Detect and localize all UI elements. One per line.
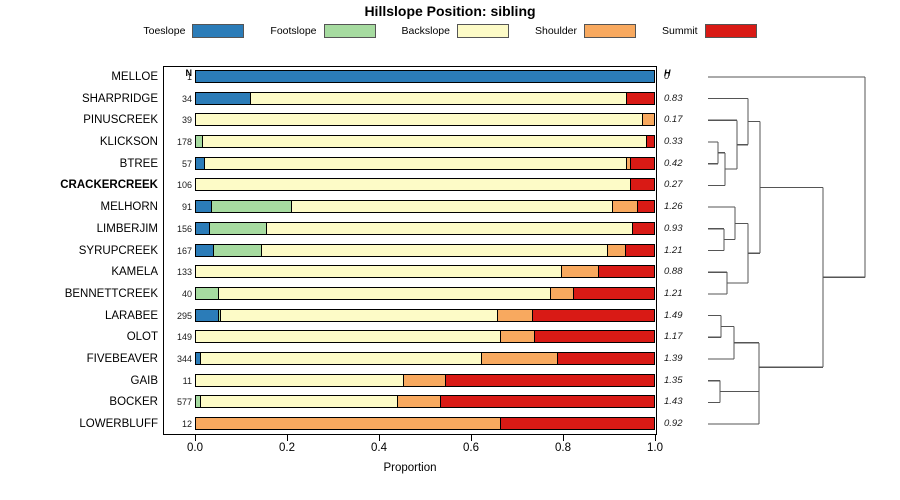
legend-item-toeslope: Toeslope <box>143 24 244 38</box>
legend-swatch-toeslope <box>192 24 244 38</box>
bar-segment-toeslope <box>196 201 212 212</box>
row-n-value: 106 <box>166 175 192 195</box>
bar-segment-shoulder <box>196 418 501 429</box>
row-n-value: 178 <box>166 132 192 152</box>
bar-segment-toeslope <box>196 71 654 82</box>
stacked-bar <box>195 287 655 300</box>
row-h-value: 1.43 <box>664 392 694 412</box>
row-n-value: 577 <box>166 392 192 412</box>
x-axis: 0.00.20.40.60.81.0 <box>163 435 657 441</box>
row-n-value: 12 <box>166 414 192 434</box>
stacked-bar <box>195 330 655 343</box>
row-label-limberjim: LIMBERJIM <box>0 219 158 239</box>
bar-segment-footslope <box>214 245 262 256</box>
stacked-bar <box>195 113 655 126</box>
bar-segment-backslope <box>196 331 501 342</box>
bar-segment-summit <box>633 223 654 234</box>
row-label-melloe: MELLOE <box>0 67 158 87</box>
bar-segment-backslope <box>201 396 398 407</box>
bar-segment-summit <box>535 331 654 342</box>
bar-segment-summit <box>599 266 654 277</box>
bar-segment-shoulder <box>608 245 626 256</box>
row-n-value: 133 <box>166 262 192 282</box>
legend-label: Shoulder <box>535 25 577 37</box>
bar-segment-backslope <box>196 266 562 277</box>
row-label-lowerbluff: LOWERBLUFF <box>0 414 158 434</box>
row-h-value: 0.27 <box>664 175 694 195</box>
row-h-value: 1.35 <box>664 371 694 391</box>
row-h-value: 1.49 <box>664 306 694 326</box>
row-label-gaib: GAIB <box>0 371 158 391</box>
bar-segment-toeslope <box>196 223 210 234</box>
bar-segment-backslope <box>196 179 631 190</box>
stacked-bar <box>195 309 655 322</box>
x-tick <box>195 435 196 441</box>
page-title: Hillslope Position: sibling <box>0 3 900 19</box>
bar-segment-shoulder <box>643 114 654 125</box>
stacked-bar <box>195 200 655 213</box>
row-h-value: 1.17 <box>664 327 694 347</box>
row-h-value: 0.88 <box>664 262 694 282</box>
stacked-bar <box>195 157 655 170</box>
legend-swatch-shoulder <box>584 24 636 38</box>
bar-segment-toeslope <box>196 93 251 104</box>
stacked-bar <box>195 92 655 105</box>
row-label-larabee: LARABEE <box>0 306 158 326</box>
x-tick-label: 0.4 <box>371 442 387 454</box>
bar-segment-backslope <box>262 245 608 256</box>
x-tick-label: 0.2 <box>279 442 295 454</box>
bar-segment-summit <box>574 288 654 299</box>
bar-segment-summit <box>558 353 654 364</box>
stacked-bar <box>195 417 655 430</box>
row-n-value: 40 <box>166 284 192 304</box>
bar-segment-backslope <box>292 201 613 212</box>
row-label-klickson: KLICKSON <box>0 132 158 152</box>
row-h-value: 0.92 <box>664 414 694 434</box>
row-label-crackercreek: CRACKERCREEK <box>0 175 158 195</box>
bar-segment-summit <box>647 136 654 147</box>
bar-segment-shoulder <box>498 310 532 321</box>
stacked-bar <box>195 70 655 83</box>
bar-segment-summit <box>533 310 654 321</box>
bar-segment-summit <box>638 201 654 212</box>
row-n-value: 34 <box>166 89 192 109</box>
x-tick-label: 0.8 <box>555 442 571 454</box>
x-tick <box>563 435 564 441</box>
row-n-value: 39 <box>166 110 192 130</box>
bar-segment-backslope <box>251 93 627 104</box>
bar-segment-shoulder <box>482 353 558 364</box>
legend-label: Backslope <box>402 25 450 37</box>
bar-segment-summit <box>631 158 654 169</box>
row-n-value: 11 <box>166 371 192 391</box>
row-n-value: 1 <box>166 67 192 87</box>
stacked-bar <box>195 222 655 235</box>
row-n-value: 91 <box>166 197 192 217</box>
bar-segment-summit <box>501 418 654 429</box>
bar-segment-footslope <box>210 223 267 234</box>
x-tick <box>655 435 656 441</box>
bar-segment-backslope <box>267 223 633 234</box>
stacked-bar <box>195 374 655 387</box>
row-label-kamela: KAMELA <box>0 262 158 282</box>
row-h-value: 0.17 <box>664 110 694 130</box>
legend-item-summit: Summit <box>662 24 757 38</box>
legend-swatch-backslope <box>457 24 509 38</box>
row-h-value: 0 <box>664 67 694 87</box>
bar-segment-shoulder <box>562 266 599 277</box>
legend-item-footslope: Footslope <box>270 24 375 38</box>
x-tick <box>471 435 472 441</box>
legend-item-shoulder: Shoulder <box>535 24 636 38</box>
x-tick-label: 1.0 <box>647 442 663 454</box>
x-tick-label: 0.0 <box>187 442 203 454</box>
stacked-bar <box>195 178 655 191</box>
row-h-value: 0.33 <box>664 132 694 152</box>
dendrogram <box>697 64 897 436</box>
bar-segment-shoulder <box>613 201 638 212</box>
row-label-syrupcreek: SYRUPCREEK <box>0 241 158 261</box>
row-h-value: 1.21 <box>664 284 694 304</box>
bar-segment-summit <box>446 375 654 386</box>
bar-segment-footslope <box>196 136 203 147</box>
row-n-value: 344 <box>166 349 192 369</box>
row-label-btree: BTREE <box>0 154 158 174</box>
bar-segment-toeslope <box>196 245 214 256</box>
row-h-value: 1.39 <box>664 349 694 369</box>
row-h-value: 0.83 <box>664 89 694 109</box>
bar-segment-toeslope <box>196 310 219 321</box>
row-label-bennettcreek: BENNETTCREEK <box>0 284 158 304</box>
row-n-value: 295 <box>166 306 192 326</box>
row-n-value: 156 <box>166 219 192 239</box>
bar-segment-backslope <box>196 375 404 386</box>
bar-segment-backslope <box>205 158 626 169</box>
row-h-value: 1.26 <box>664 197 694 217</box>
row-h-value: 0.42 <box>664 154 694 174</box>
row-label-pinuscreek: PINUSCREEK <box>0 110 158 130</box>
bar-segment-shoulder <box>501 331 535 342</box>
bar-segment-summit <box>441 396 654 407</box>
row-label-olot: OLOT <box>0 327 158 347</box>
legend-label: Summit <box>662 25 698 37</box>
stacked-bar <box>195 352 655 365</box>
row-n-value: 149 <box>166 327 192 347</box>
bar-segment-backslope <box>203 136 647 147</box>
stacked-bar <box>195 265 655 278</box>
bar-segment-backslope <box>201 353 483 364</box>
legend-swatch-summit <box>705 24 757 38</box>
legend-swatch-footslope <box>324 24 376 38</box>
bar-segment-shoulder <box>398 396 442 407</box>
x-axis-label: Proportion <box>163 462 657 474</box>
legend-item-backslope: Backslope <box>402 24 509 38</box>
row-n-value: 57 <box>166 154 192 174</box>
bar-segment-backslope <box>221 310 498 321</box>
row-label-bocker: BOCKER <box>0 392 158 412</box>
legend-label: Toeslope <box>143 25 185 37</box>
legend-label: Footslope <box>270 25 316 37</box>
row-h-value: 0.93 <box>664 219 694 239</box>
stacked-bar <box>195 395 655 408</box>
row-h-value: 1.21 <box>664 241 694 261</box>
bar-segment-summit <box>626 245 653 256</box>
bar-segment-footslope <box>196 288 219 299</box>
row-label-melhorn: MELHORN <box>0 197 158 217</box>
dendrogram-svg <box>697 64 897 436</box>
bar-segment-backslope <box>196 114 643 125</box>
legend: ToeslopeFootslopeBackslopeShoulderSummit <box>0 24 900 38</box>
bar-segment-toeslope <box>196 158 205 169</box>
bar-segment-summit <box>631 179 654 190</box>
row-label-sharpridge: SHARPRIDGE <box>0 89 158 109</box>
bar-segment-footslope <box>212 201 292 212</box>
stacked-bar <box>195 135 655 148</box>
bar-segment-shoulder <box>551 288 574 299</box>
stacked-bar <box>195 244 655 257</box>
bar-segment-backslope <box>219 288 551 299</box>
row-n-value: 167 <box>166 241 192 261</box>
row-label-fivebeaver: FIVEBEAVER <box>0 349 158 369</box>
x-tick <box>287 435 288 441</box>
x-tick <box>379 435 380 441</box>
bar-segment-shoulder <box>404 375 445 386</box>
x-tick-label: 0.6 <box>463 442 479 454</box>
bar-segment-summit <box>627 93 654 104</box>
